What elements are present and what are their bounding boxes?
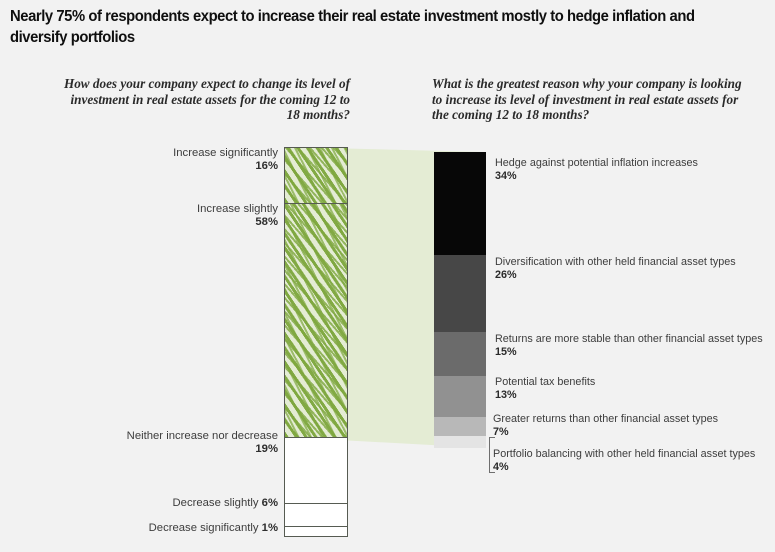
right-chart-question: What is the greatest reason why your com… (432, 76, 752, 123)
right-label-text-2: Diversification with other held financia… (495, 256, 736, 268)
page-title: Nearly 75% of respondents expect to incr… (10, 6, 717, 48)
right-label-text-1: Hedge against potential inflation increa… (495, 157, 698, 169)
left-label-pct-1: 16% (255, 160, 278, 172)
right-label-pct-1: 34% (495, 170, 517, 182)
left-label-increase-significantly: Increase significantly 16% (88, 147, 278, 174)
right-label-pct-3: 15% (495, 346, 517, 358)
right-label-portfolio-balancing: Portfolio balancing with other held fina… (493, 448, 771, 474)
left-label-text-5: Decrease significantly (149, 522, 259, 534)
right-label-pct-4: 13% (495, 389, 517, 401)
right-label-pct-5: 7% (493, 426, 509, 438)
right-bar-segment-greater-returns (434, 417, 486, 436)
left-label-decrease-slightly: Decrease slightly 6% (88, 497, 278, 510)
right-label-text-4: Potential tax benefits (495, 376, 595, 388)
right-label-tax-benefits: Potential tax benefits 13% (495, 376, 773, 402)
right-label-text-6: Portfolio balancing with other held fina… (493, 448, 755, 460)
right-bar-segment-portfolio-balancing (434, 436, 486, 448)
right-label-stable-returns: Returns are more stable than other finan… (495, 333, 773, 359)
left-label-text-4: Decrease slightly (173, 497, 259, 509)
left-stacked-bar (284, 147, 348, 537)
right-label-text-3: Returns are more stable than other finan… (495, 333, 763, 345)
left-bar-segment-increase-significantly (285, 148, 347, 203)
right-bar-segment-tax-benefits (434, 376, 486, 417)
right-label-text-5: Greater returns than other financial ass… (493, 413, 718, 425)
right-label-diversification: Diversification with other held financia… (495, 256, 773, 282)
left-label-pct-5: 1% (262, 522, 278, 534)
left-label-decrease-significantly: Decrease significantly 1% (88, 522, 278, 535)
left-label-pct-4: 6% (262, 497, 278, 509)
left-label-text-1: Increase significantly (173, 147, 278, 159)
left-label-pct-3: 19% (255, 443, 278, 455)
left-bar-segment-neither (285, 438, 347, 503)
right-label-pct-2: 26% (495, 269, 517, 281)
left-label-text-2: Increase slightly (197, 203, 278, 215)
left-label-neither: Neither increase nor decrease 19% (88, 430, 278, 457)
left-bar-segment-decrease-slightly (285, 504, 347, 526)
right-bar-segment-hedge-inflation (434, 152, 486, 255)
right-bar-segment-stable-returns (434, 332, 486, 376)
left-bar-segment-decrease-significantly (285, 527, 347, 535)
right-label-pct-6: 4% (493, 461, 509, 473)
left-chart-question: How does your company expect to change i… (60, 76, 350, 123)
right-stacked-bar (434, 152, 486, 448)
right-label-greater-returns: Greater returns than other financial ass… (493, 413, 771, 439)
left-label-text-3: Neither increase nor decrease (127, 430, 278, 442)
left-label-increase-slightly: Increase slightly 58% (88, 203, 278, 230)
left-bar-segment-increase-slightly (285, 204, 347, 437)
infographic-canvas: Nearly 75% of respondents expect to incr… (0, 0, 775, 552)
left-label-pct-2: 58% (255, 216, 278, 228)
right-label-hedge-inflation: Hedge against potential inflation increa… (495, 157, 773, 183)
right-bar-segment-diversification (434, 255, 486, 332)
